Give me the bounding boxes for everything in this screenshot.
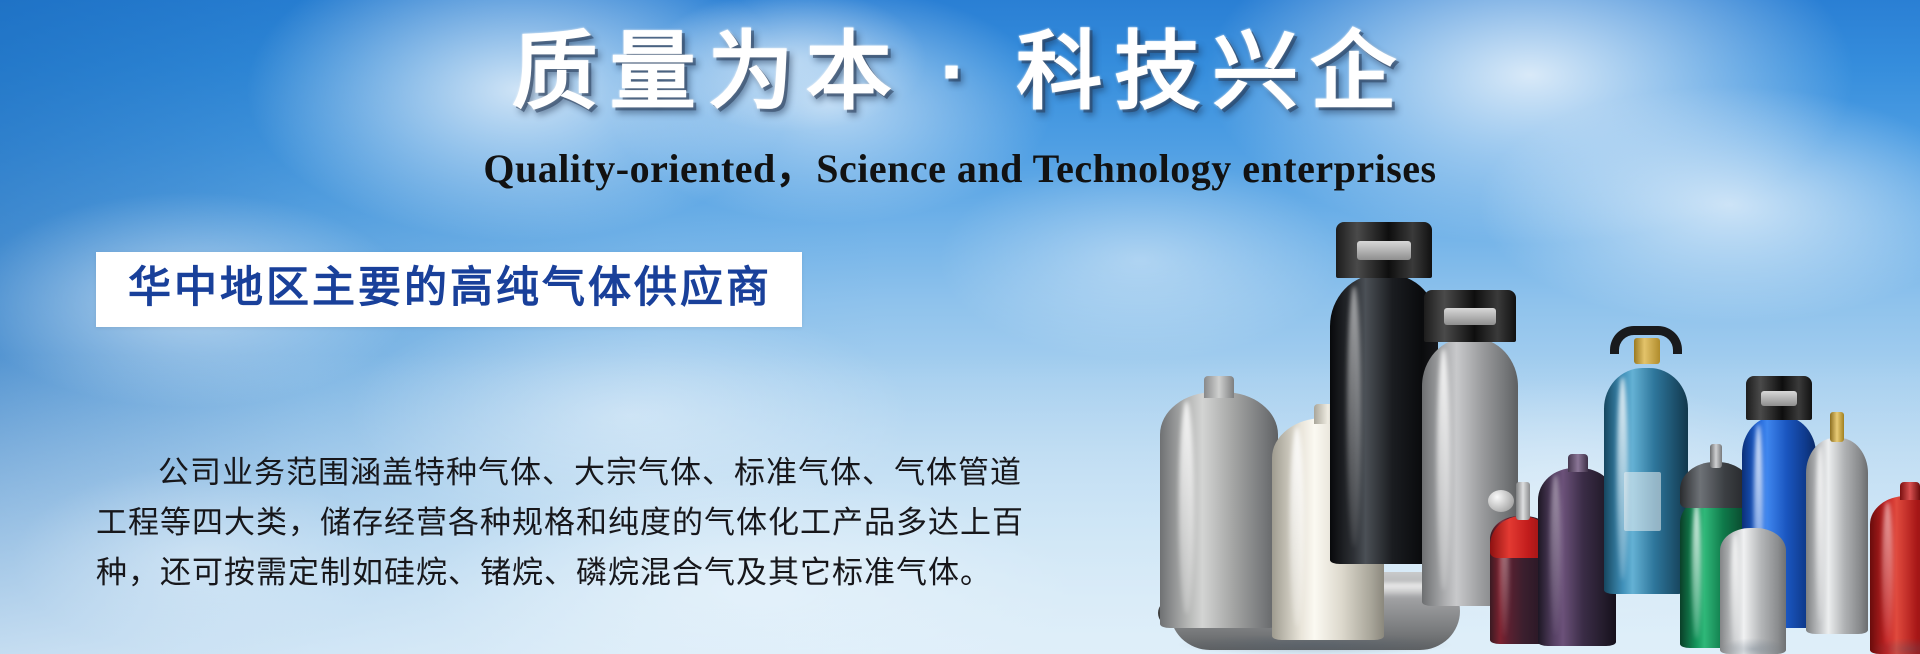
body-line: 公司业务范围涵盖特种气体、大宗气体、标准气体、气体管道 [96, 448, 1026, 498]
cylinder-body [1160, 392, 1278, 628]
cylinder-body [1604, 368, 1688, 594]
cylinder-gloss [1437, 349, 1449, 590]
tagline-text: 华中地区主要的高纯气体供应商 [128, 266, 772, 311]
cylinder-guard-cap [1336, 222, 1432, 278]
body-line: 工程等四大类，储存经营各种规格和纯度的气体化工产品多达上百 [96, 498, 1026, 548]
tagline-box: 华中地区主要的高纯气体供应商 [96, 252, 802, 327]
cylinder-gloss [1731, 533, 1740, 646]
cylinder-guard-cap [1746, 376, 1812, 420]
cylinder-gloss [1692, 502, 1701, 639]
cylinder-gloss [1347, 286, 1361, 547]
cylinder-valve [1830, 412, 1844, 442]
cylinder-guard-cap [1424, 290, 1516, 342]
cylinder-gauge [1488, 490, 1514, 512]
banner-body-copy: 公司业务范围涵盖特种气体、大宗气体、标准气体、气体管道 工程等四大类，储存经营各… [96, 448, 1026, 599]
cylinder-valve [1516, 482, 1530, 520]
cylinder-body [1720, 528, 1786, 654]
cylinder-grey-tall-left [1160, 392, 1278, 628]
cylinder-neck [1900, 482, 1920, 500]
cylinder-aluminium-slim [1806, 438, 1868, 634]
cylinder-aluminium-short [1720, 528, 1786, 654]
cylinder-body [1806, 438, 1868, 634]
cylinder-neck [1204, 376, 1234, 398]
gas-cylinder-group [1160, 174, 1920, 654]
cylinder-gloss [1179, 401, 1194, 613]
cylinder-gloss [1550, 475, 1560, 635]
cylinder-brass-valve [1634, 338, 1660, 364]
cylinder-body [1870, 496, 1920, 654]
cylinder-gloss [1290, 427, 1305, 627]
banner-headline: 质量为本 · 科技兴企 [0, 22, 1920, 123]
banner-subheadline: Quality-oriented，Science and Technology … [0, 136, 1920, 194]
cylinder-gloss [1816, 446, 1824, 622]
cylinder-blue-teal-medium [1604, 368, 1688, 594]
cylinder-neck [1568, 454, 1588, 472]
cylinder-gloss [1882, 502, 1892, 644]
cylinder-valve [1710, 444, 1722, 468]
cylinder-red-wide [1870, 496, 1920, 654]
gas-company-banner: 质量为本 · 科技兴企 Quality-oriented，Science and… [0, 0, 1920, 654]
cylinder-shadow [1721, 638, 1784, 654]
body-line: 种，还可按需定制如硅烷、锗烷、磷烷混合气及其它标准气体。 [96, 548, 1026, 598]
cylinder-label [1624, 472, 1661, 531]
